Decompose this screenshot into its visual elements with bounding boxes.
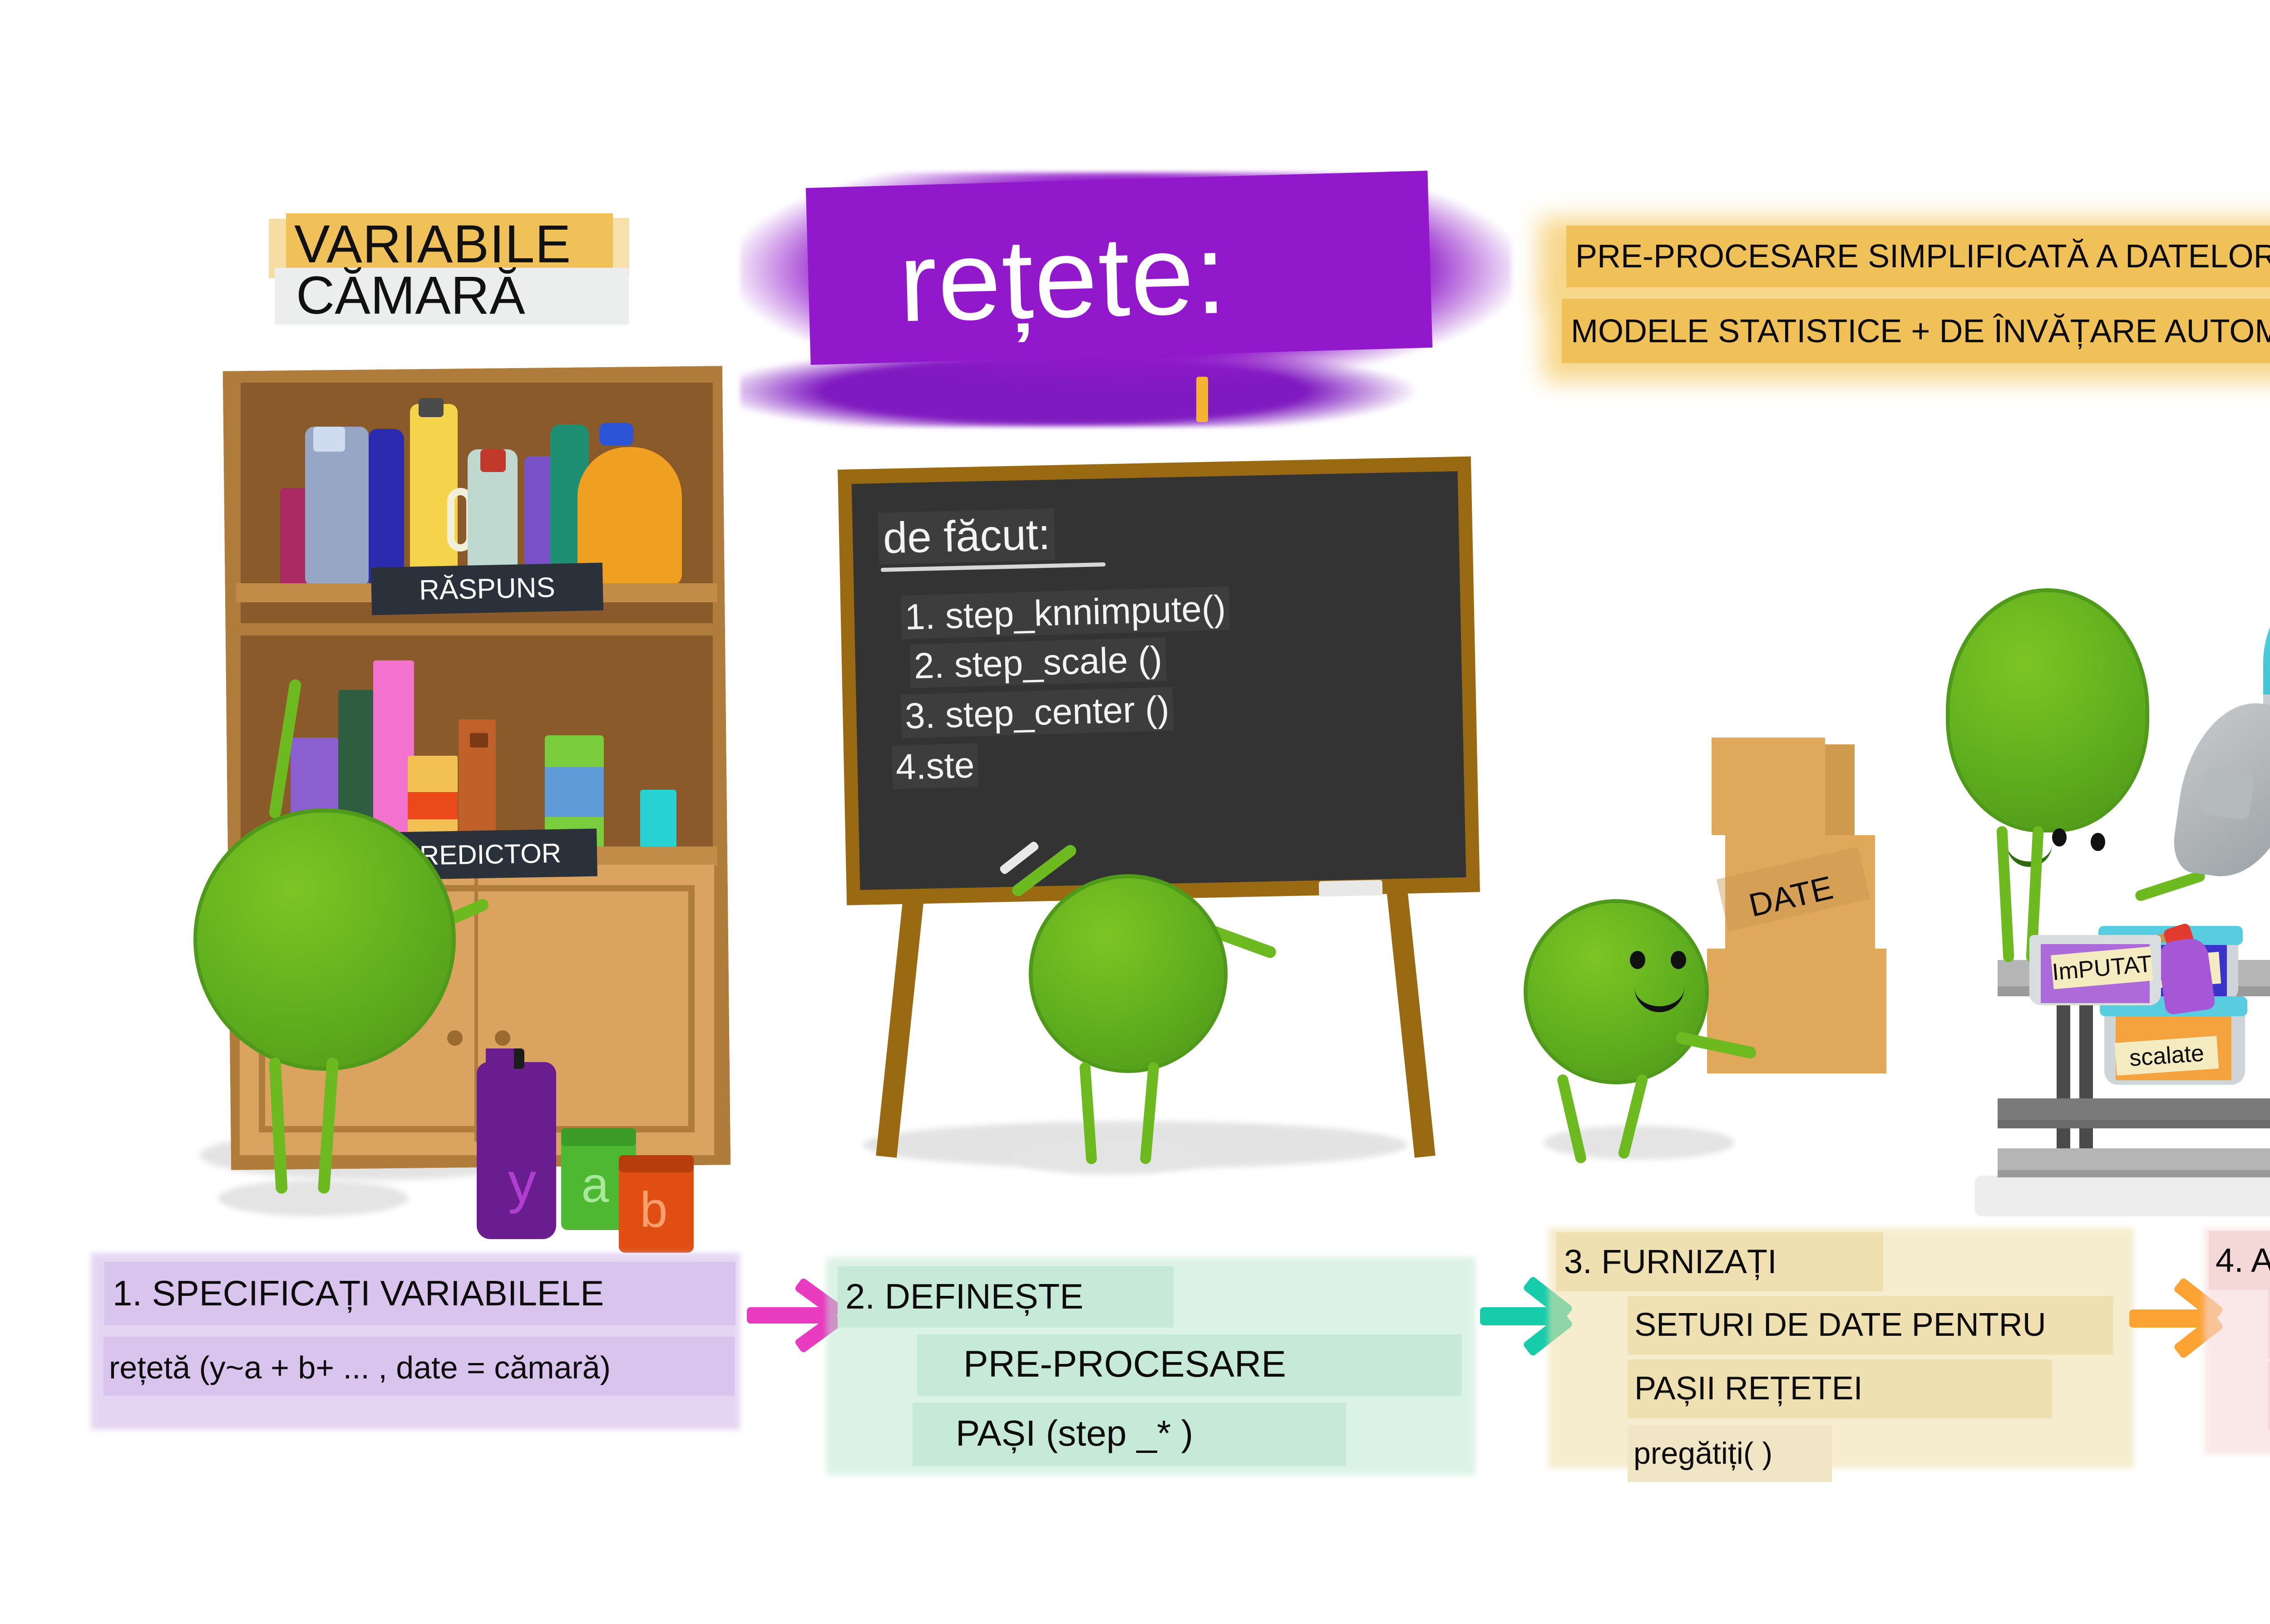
step-4-title: 4. APLICAȚI	[2216, 1231, 2270, 1289]
blackboard-item-4: 4.ste	[892, 743, 979, 789]
step-1-line-1: rețetă (y~a + b+ ... , date = cămară)	[109, 1339, 754, 1396]
can-cyan	[640, 790, 676, 851]
monster-4-smile	[2007, 842, 2052, 867]
table-base-edge	[1998, 1170, 2270, 1177]
jar-a-lid	[561, 1128, 636, 1146]
monster-2-shadow	[1012, 1139, 1208, 1175]
blackboard-eraser[interactable]	[1319, 880, 1383, 897]
table-leg-left-2	[2079, 996, 2093, 1160]
step-1-title: 1. SPECIFICAȚI VARIABILELE	[113, 1263, 748, 1324]
box-top	[1712, 738, 1825, 835]
step-4-line-2-bg	[2268, 1362, 2270, 1430]
table-lower-shelf	[1998, 1098, 2270, 1120]
step-2-line-1: PRE-PROCESARE	[963, 1334, 1508, 1394]
bottle-cap-dark	[419, 398, 444, 417]
monster-3-eye-right	[1671, 951, 1686, 969]
blackboard-item-1: 1. step_knnimpute()	[901, 586, 1230, 639]
jar-y-neck	[486, 1048, 514, 1107]
box-top-side	[1825, 744, 1855, 835]
arrow-1-shaft	[747, 1307, 831, 1324]
monster-4-eye-right	[2091, 833, 2105, 851]
monster-4-eye-left	[2052, 828, 2067, 846]
jar-y-letter: y	[495, 1148, 549, 1216]
bottle-dark-blue	[369, 429, 404, 586]
monster-3-eye-left	[1630, 951, 1645, 969]
blackboard-item-3: 3. step_center ()	[901, 687, 1174, 738]
can-yellow-band	[408, 792, 458, 819]
bottle-cap-white	[313, 427, 345, 452]
monster-4-body	[1950, 592, 2145, 828]
table-lower-shelf-edge	[1998, 1120, 2270, 1128]
step-3-line-2: PAȘII REȚETEI	[1634, 1359, 2070, 1417]
step-3-line-1: SETURI DE DATE PENTRU	[1634, 1296, 2134, 1354]
jar-b-lid	[619, 1155, 694, 1172]
mixing-bowl-highlight	[2199, 768, 2255, 820]
bottle-cap-blue	[599, 423, 633, 446]
blackboard-leg-left	[876, 889, 924, 1158]
step-2-line-2: PAȘI (step _* )	[956, 1403, 1410, 1464]
blackboard-title: de făcut:	[878, 508, 1056, 564]
blackboard-leg-right	[1387, 889, 1435, 1158]
blackboard-item-2: 2. step_scale ()	[910, 637, 1166, 688]
table-leg-left-1	[2057, 996, 2070, 1160]
step-3-title: 3. FURNIZAȚI	[1564, 1232, 1900, 1290]
monster-4-arm-right	[2134, 870, 2206, 902]
chalk-stick-icon	[1196, 377, 1208, 422]
shelf-label-raspuns: RĂSPUNS	[371, 563, 603, 615]
step-3-line-3: pregătiți( )	[1633, 1425, 1847, 1481]
monster-1-shadow	[218, 1180, 409, 1216]
bottle-cap-red	[480, 449, 506, 472]
table-base	[1998, 1148, 2270, 1170]
monster-2-body	[1033, 878, 1224, 1069]
jar-b-letter: b	[629, 1180, 679, 1239]
step-4-line-1-bg	[2268, 1288, 2270, 1358]
can-green-band	[545, 767, 604, 817]
step-2-title: 2. DEFINEȘTE	[845, 1266, 1190, 1326]
pantry-door-knob-right[interactable]	[495, 1030, 510, 1046]
table-shadow	[1975, 1176, 2270, 1216]
box-brown-mark	[470, 733, 488, 748]
monster-1-body	[197, 812, 452, 1067]
camara-title: CĂMARĂ	[296, 265, 641, 326]
page-title: rețete:	[897, 192, 1446, 356]
pantry-door-knob-left[interactable]	[447, 1030, 463, 1046]
jar-a-letter: a	[570, 1155, 620, 1214]
headline-line-2: MODELE STATISTICE + DE ÎNVĂȚARE AUTOMATĂ	[1571, 300, 2270, 362]
headline-line-1: PRE-PROCESARE SIMPLIFICATĂ A DATELOR PEN…	[1575, 227, 2270, 286]
